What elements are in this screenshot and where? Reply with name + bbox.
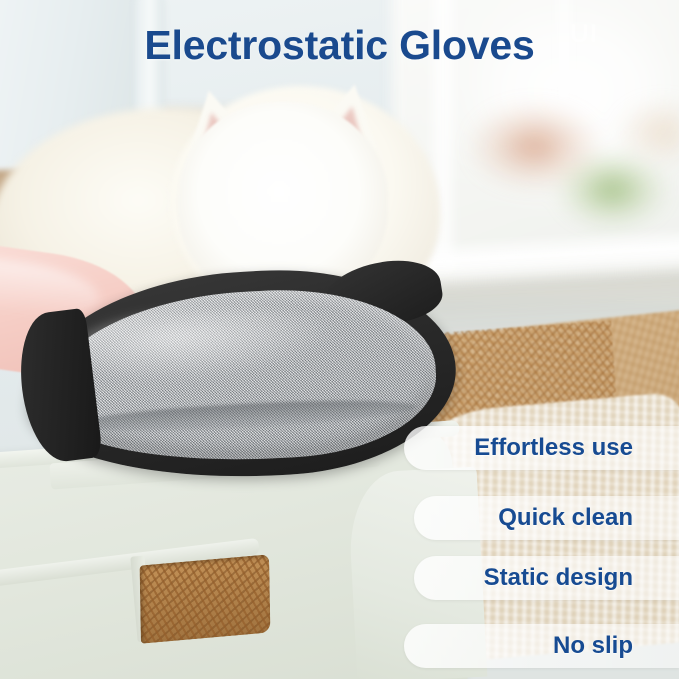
feature-label: Static design	[484, 564, 633, 592]
feature-pill-static-design: Static design	[414, 556, 679, 600]
feature-pill-no-slip: No slip	[404, 624, 679, 668]
feature-pill-quick-clean: Quick clean	[414, 496, 679, 540]
window-outside-greenery	[470, 60, 679, 240]
feature-pill-effortless-use: Effortless use	[404, 426, 679, 470]
page-title: Electrostatic Gloves	[0, 22, 679, 69]
feature-label: No slip	[553, 632, 633, 660]
litter-box-opening	[140, 554, 271, 644]
feature-label: Quick clean	[498, 504, 633, 532]
feature-label: Effortless use	[474, 434, 633, 462]
product-poster: Electrostatic Gloves UI Effortless use Q…	[0, 0, 679, 679]
grooming-glove	[21, 261, 462, 498]
